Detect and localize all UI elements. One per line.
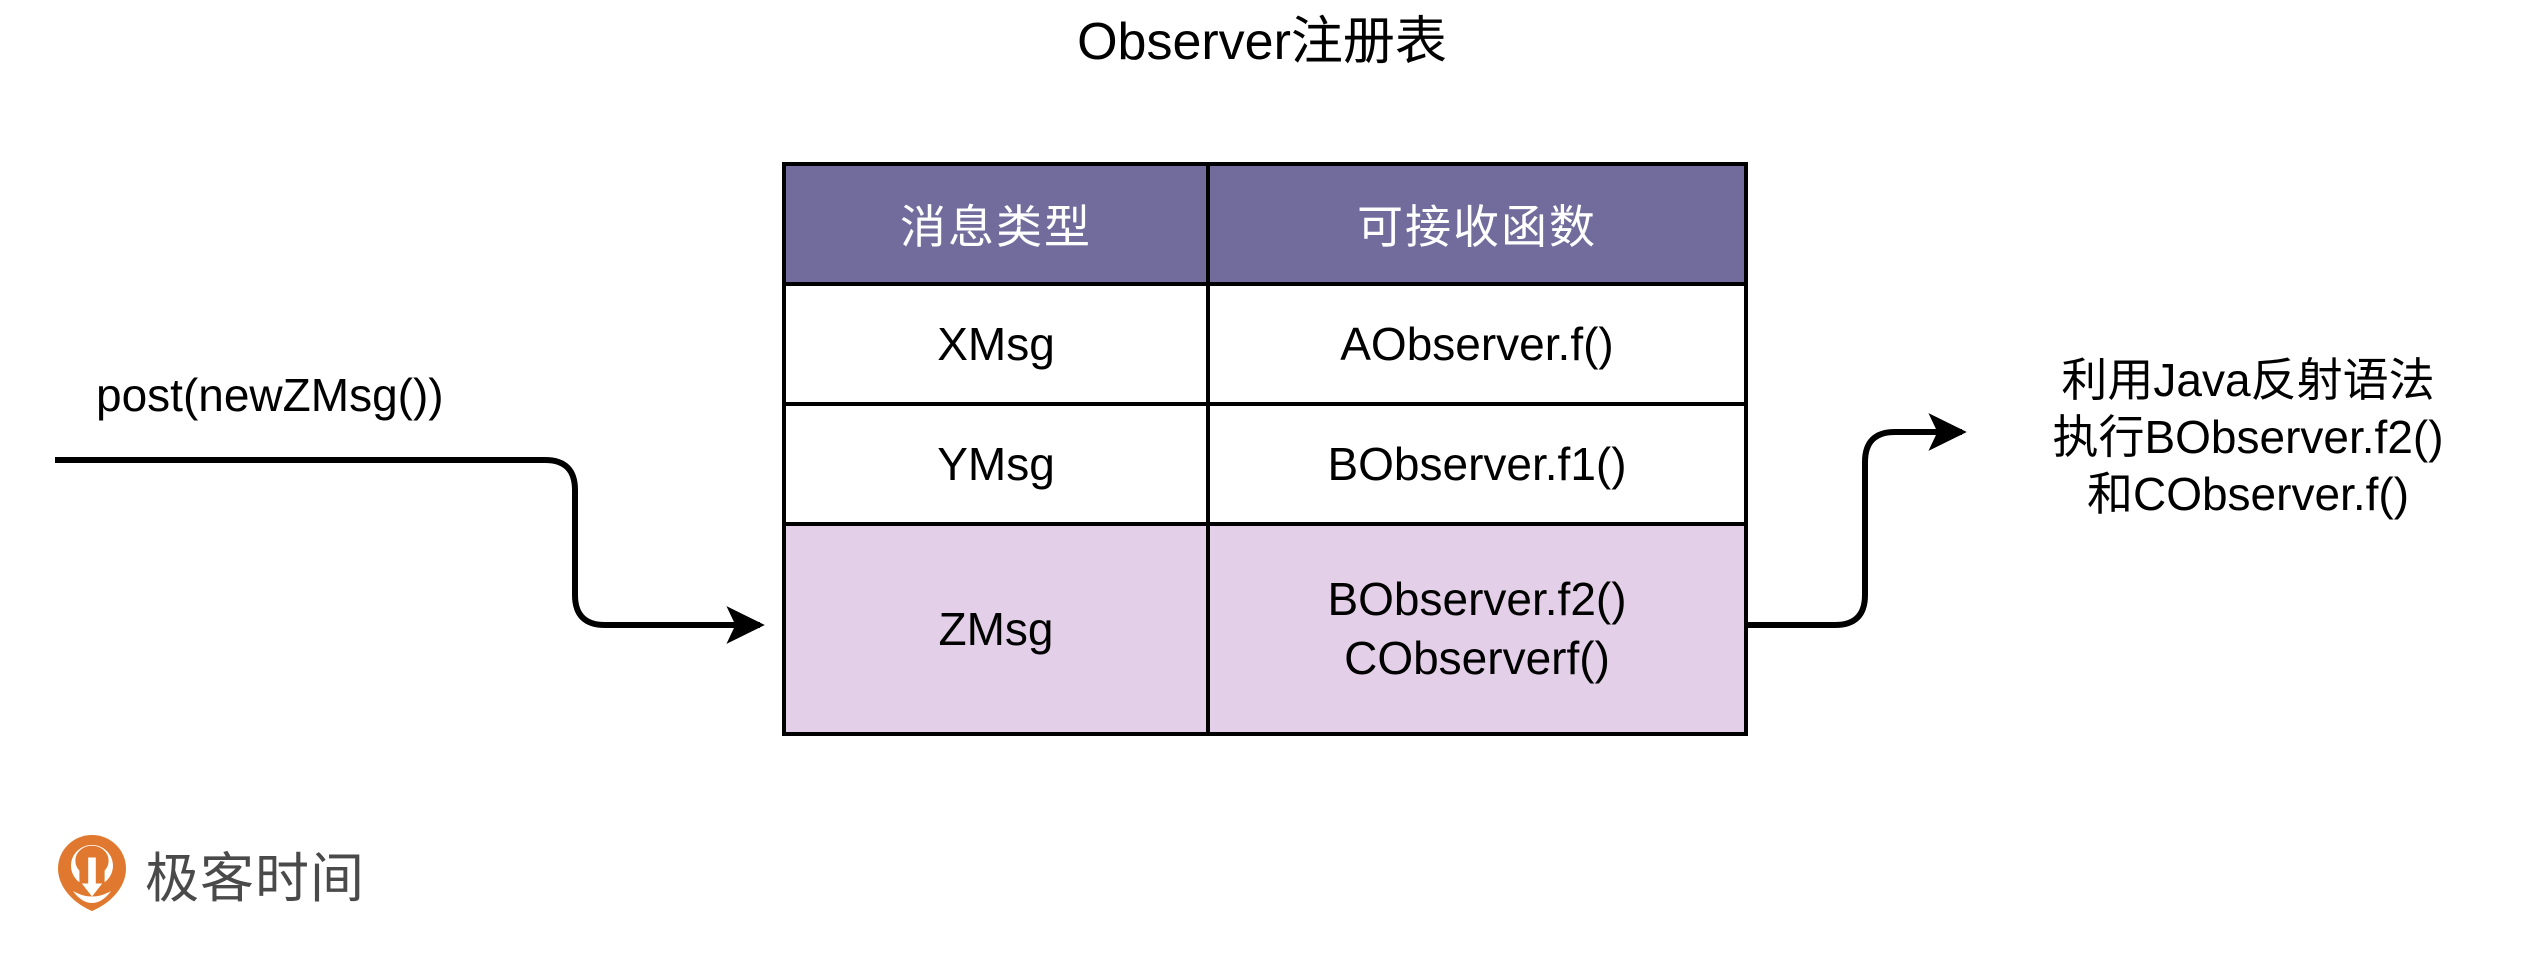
brand-logo: 极客时间 bbox=[55, 833, 365, 913]
cell-message-type: YMsg bbox=[784, 404, 1208, 524]
function-entry: AObserver.f() bbox=[1210, 315, 1744, 374]
cell-receiver-functions: AObserver.f() bbox=[1208, 284, 1746, 404]
incoming-message-label: post(newZMsg()) bbox=[96, 368, 444, 422]
table-row: XMsg AObserver.f() bbox=[784, 284, 1746, 404]
result-line-3: 和CObserver.f() bbox=[1998, 466, 2498, 523]
function-entry: CObserverf() bbox=[1210, 629, 1744, 688]
cell-receiver-functions: BObserver.f2() CObserverf() bbox=[1208, 524, 1746, 734]
cell-message-type: ZMsg bbox=[784, 524, 1208, 734]
geekbang-pin-icon bbox=[55, 833, 129, 913]
function-entry: BObserver.f1() bbox=[1210, 435, 1744, 494]
diagram-canvas: Observer注册表 post(newZMsg()) 利用Java反射语法 执… bbox=[0, 0, 2528, 953]
column-header-receiver-functions: 可接收函数 bbox=[1208, 164, 1746, 284]
table-row: YMsg BObserver.f1() bbox=[784, 404, 1746, 524]
page-title: Observer注册表 bbox=[782, 14, 1742, 71]
cell-message-type: XMsg bbox=[784, 284, 1208, 404]
cell-receiver-functions: BObserver.f1() bbox=[1208, 404, 1746, 524]
brand-name: 极客时间 bbox=[145, 834, 365, 913]
outgoing-result-label: 利用Java反射语法 执行BObserver.f2() 和CObserver.f… bbox=[1998, 352, 2498, 523]
outgoing-arrow-path bbox=[1746, 432, 1962, 625]
incoming-arrow-path bbox=[55, 460, 760, 625]
result-line-1: 利用Java反射语法 bbox=[1998, 352, 2498, 409]
function-entry: BObserver.f2() bbox=[1210, 570, 1744, 629]
observer-registry-table: 消息类型 可接收函数 XMsg AObserver.f() YMsg BObse… bbox=[782, 162, 1748, 736]
column-header-message-type: 消息类型 bbox=[784, 164, 1208, 284]
result-line-2: 执行BObserver.f2() bbox=[1998, 409, 2498, 466]
table-row-highlighted: ZMsg BObserver.f2() CObserverf() bbox=[784, 524, 1746, 734]
table-header-row: 消息类型 可接收函数 bbox=[784, 164, 1746, 284]
